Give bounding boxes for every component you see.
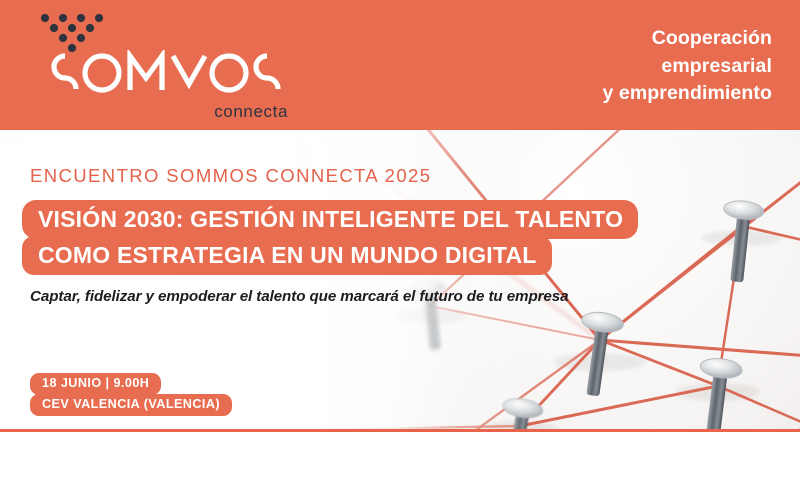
event-title: VISIÓN 2030: GESTIÓN INTELIGENTE DEL TAL… (22, 200, 638, 275)
header-claim: Cooperación empresarial y emprendimiento (602, 25, 772, 108)
sommos-logo: connecta (38, 12, 298, 117)
triangle-dots-icon (38, 12, 110, 54)
header-claim-line-2: empresarial (602, 53, 772, 81)
event-poster: connecta Cooperación empresarial y empre… (0, 0, 800, 500)
event-title-line-2: COMO ESTRATEGIA EN UN MUNDO DIGITAL (22, 236, 552, 275)
event-venue: CEV VALENCIA (VALENCIA) (30, 394, 232, 416)
event-eyebrow: ENCUENTRO SOMMOS CONNECTA 2025 (30, 165, 431, 187)
event-datetime: 18 JUNIO | 9.00H (30, 373, 161, 395)
header-claim-line-3: y emprendimiento (602, 80, 772, 108)
header-claim-line-1: Cooperación (602, 25, 772, 53)
sommos-wordmark-icon (36, 50, 286, 96)
connecta-wordmark: connecta (38, 102, 288, 122)
event-subtitle: Captar, fidelizar y empoderar el talento… (30, 288, 568, 305)
event-title-line-1: VISIÓN 2030: GESTIÓN INTELIGENTE DEL TAL… (22, 200, 638, 239)
footer-bar: FINANCIA: GENERALITAT VALENCIANA ACI ARA… (0, 432, 800, 500)
header-band: connecta Cooperación empresarial y empre… (0, 0, 800, 130)
event-details: 18 JUNIO | 9.00H CEV VALENCIA (VALENCIA) (30, 373, 232, 416)
